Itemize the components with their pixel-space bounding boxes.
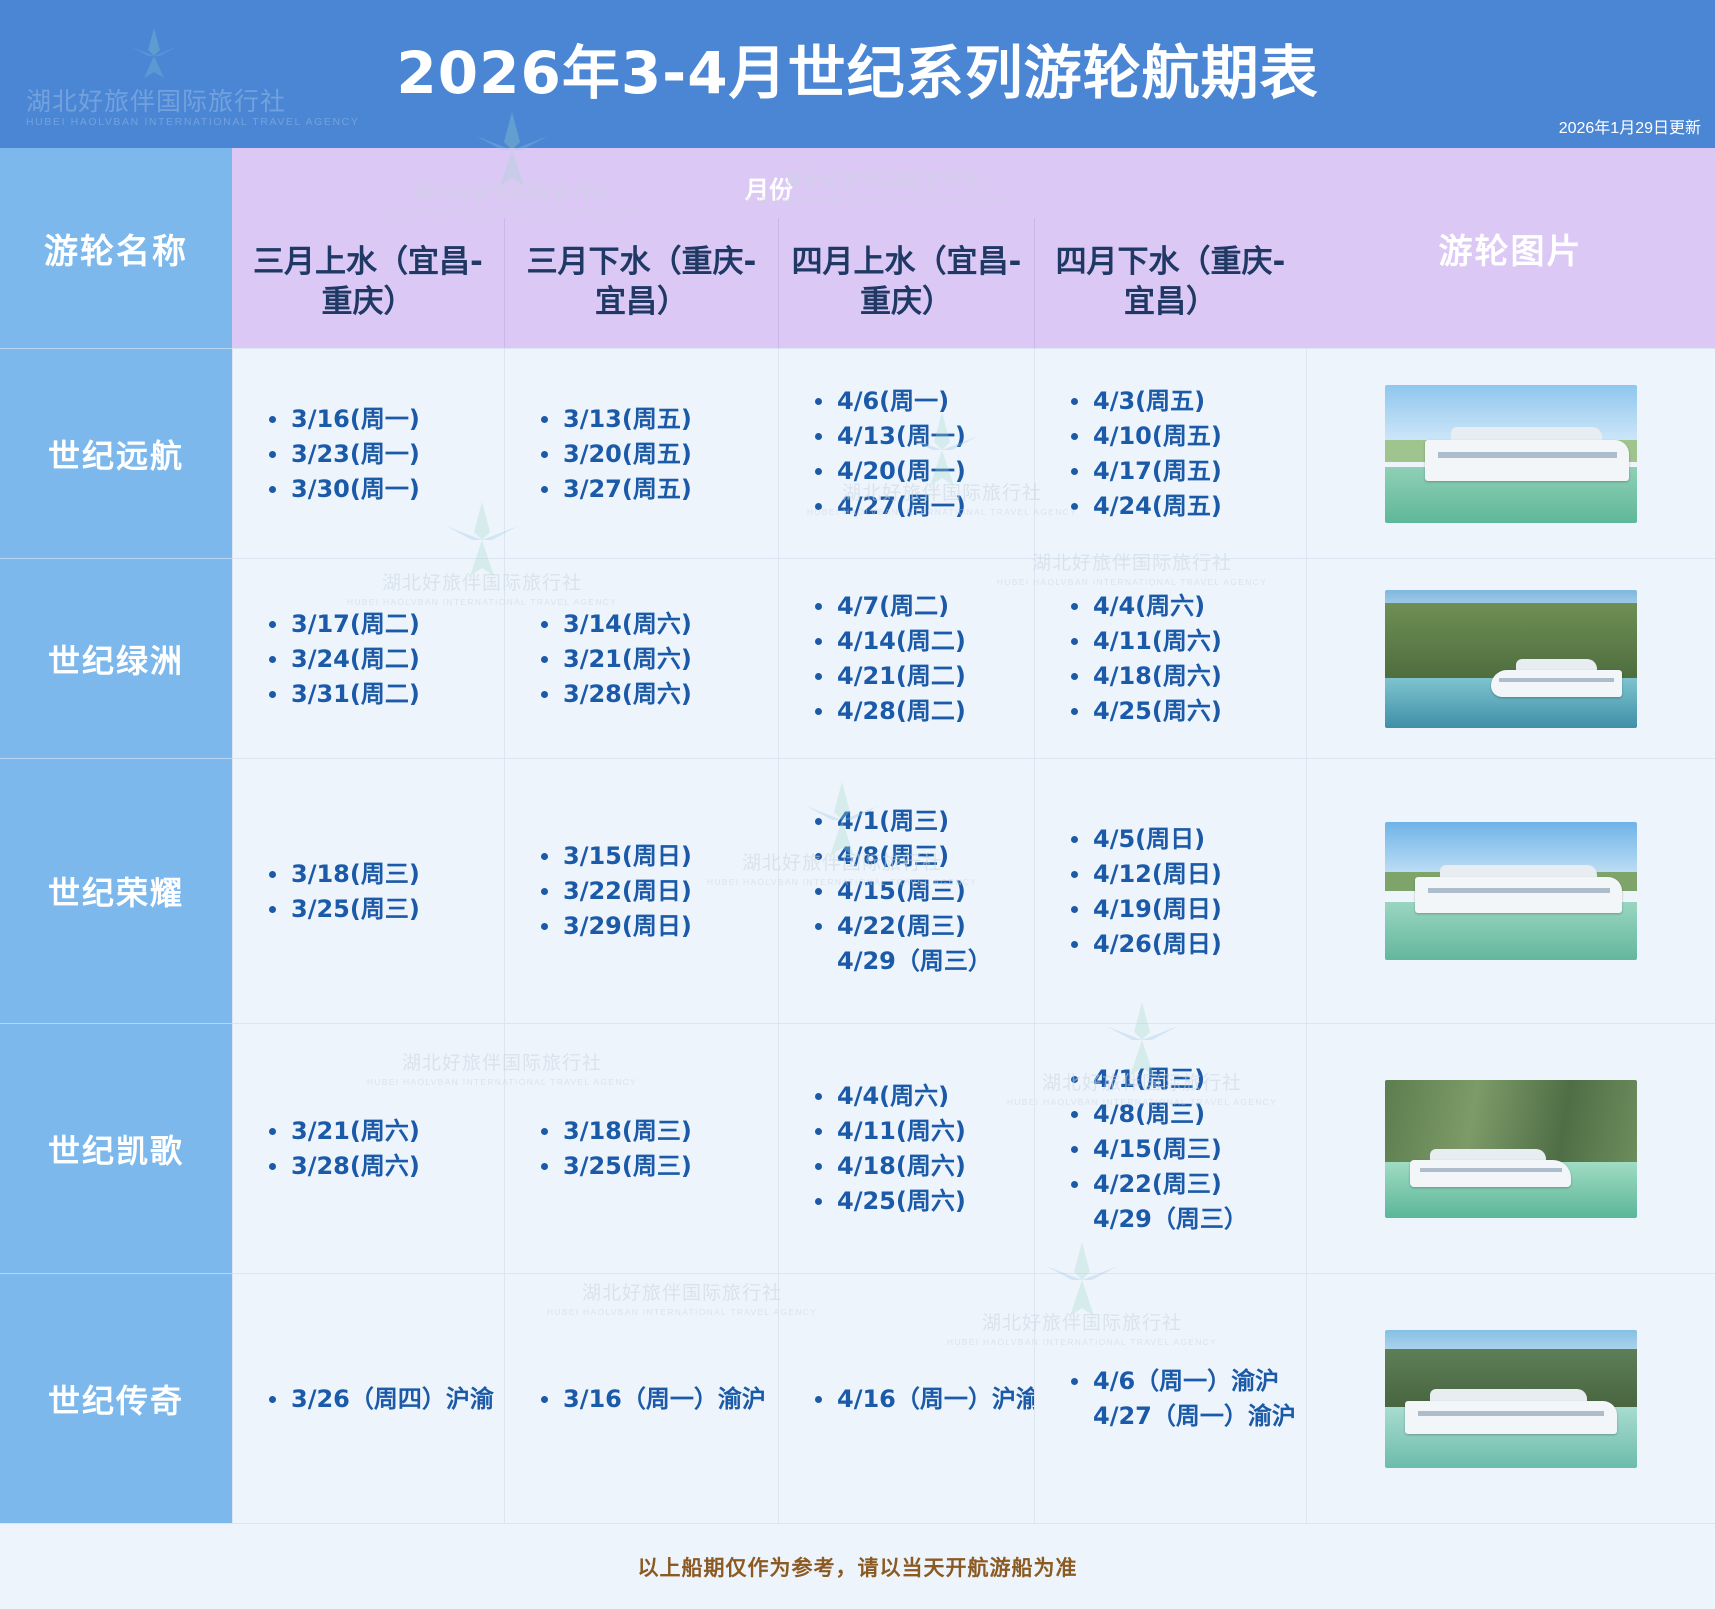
departure-date: 3/24(周二) bbox=[267, 647, 504, 671]
cell-mar-up: 3/26（周四）沪渝 bbox=[232, 1273, 504, 1523]
departure-date: 4/27(周一) bbox=[813, 494, 1034, 518]
departure-date: 4/4(周六) bbox=[813, 1084, 1034, 1108]
poster-header: 湖北好旅伴国际旅行社 HUBEI HAOLVBAN INTERNATIONAL … bbox=[0, 0, 1715, 148]
departure-date: 4/24(周五) bbox=[1069, 494, 1306, 518]
ship-photo-shijiyuanhang bbox=[1385, 385, 1637, 523]
departure-date: 3/16(周一) bbox=[267, 407, 504, 431]
cell-mar-down: 3/13(周五)3/20(周五)3/27(周五) bbox=[504, 348, 778, 558]
departure-date: 3/27(周五) bbox=[539, 477, 778, 501]
departure-date: 4/27（周一）渝沪 bbox=[1069, 1404, 1306, 1428]
table-row-ship-name: 世纪远航 bbox=[0, 348, 232, 558]
cell-apr-down: 4/3(周五)4/10(周五)4/17(周五)4/24(周五) bbox=[1034, 348, 1306, 558]
departure-date: 3/16（周一）渝沪 bbox=[539, 1387, 778, 1411]
table-row-ship-name: 世纪凯歌 bbox=[0, 1023, 232, 1273]
departure-date: 4/3(周五) bbox=[1069, 389, 1306, 413]
table-row-ship-name: 世纪传奇 bbox=[0, 1273, 232, 1523]
departure-date: 3/28(周六) bbox=[539, 682, 778, 706]
departure-date: 3/13(周五) bbox=[539, 407, 778, 431]
departure-date: 3/15(周日) bbox=[539, 844, 778, 868]
cell-mar-down: 3/15(周日)3/22(周日)3/29(周日) bbox=[504, 758, 778, 1023]
departure-date: 3/23(周一) bbox=[267, 442, 504, 466]
page-title: 2026年3-4月世纪系列游轮航期表 bbox=[0, 26, 1715, 110]
cell-apr-up: 4/4(周六)4/11(周六)4/18(周六)4/25(周六) bbox=[778, 1023, 1034, 1273]
col-header-month-group: 月份 三月上水（宜昌-重庆） 三月下水（重庆-宜昌） 四月上水（宜昌-重庆） 四… bbox=[232, 148, 1306, 348]
departure-date: 3/26（周四）沪渝 bbox=[267, 1387, 504, 1411]
departure-date: 4/1(周三) bbox=[1069, 1067, 1306, 1091]
cell-mar-down: 3/18(周三)3/25(周三) bbox=[504, 1023, 778, 1273]
departure-date: 4/25(周六) bbox=[813, 1189, 1034, 1213]
cell-ship-photo bbox=[1306, 758, 1715, 1023]
update-timestamp: 2026年1月29日更新 bbox=[1559, 114, 1701, 138]
departure-date: 4/8(周三) bbox=[1069, 1102, 1306, 1126]
cell-apr-down: 4/5(周日)4/12(周日)4/19(周日)4/26(周日) bbox=[1034, 758, 1306, 1023]
table-row-ship-name: 世纪荣耀 bbox=[0, 758, 232, 1023]
departure-date: 4/25(周六) bbox=[1069, 699, 1306, 723]
departure-date: 4/22(周三) bbox=[813, 914, 1034, 938]
col-header-ship-name: 游轮名称 bbox=[0, 148, 232, 348]
month-subheaders: 三月上水（宜昌-重庆） 三月下水（重庆-宜昌） 四月上水（宜昌-重庆） 四月下水… bbox=[232, 218, 1306, 348]
ship-photo-shijirongyao bbox=[1385, 822, 1637, 960]
footer-note-text: 以上船期仅作为参考，请以当天开航游船为准 bbox=[638, 1552, 1078, 1582]
departure-date: 4/19(周日) bbox=[1069, 897, 1306, 921]
departure-date: 4/18(周六) bbox=[813, 1154, 1034, 1178]
ship-photo-shijichuanqi bbox=[1385, 1330, 1637, 1468]
departure-date: 4/14(周二) bbox=[813, 629, 1034, 653]
departure-date: 4/18(周六) bbox=[1069, 664, 1306, 688]
cell-mar-up: 3/21(周六)3/28(周六) bbox=[232, 1023, 504, 1273]
departure-date: 4/1(周三) bbox=[813, 809, 1034, 833]
departure-date: 3/20(周五) bbox=[539, 442, 778, 466]
brand-name-en: HUBEI HAOLVBAN INTERNATIONAL TRAVEL AGEN… bbox=[26, 116, 286, 128]
ship-photo-shijilvzhou bbox=[1385, 590, 1637, 728]
departure-date: 3/28(周六) bbox=[267, 1154, 504, 1178]
departure-date: 4/22(周三) bbox=[1069, 1172, 1306, 1196]
departure-date: 4/29（周三） bbox=[813, 949, 1034, 973]
cell-apr-down: 4/6（周一）渝沪4/27（周一）渝沪 bbox=[1034, 1273, 1306, 1523]
departure-date: 4/21(周二) bbox=[813, 664, 1034, 688]
departure-date: 4/16（周一）沪渝 bbox=[813, 1387, 1034, 1411]
cell-apr-up: 4/7(周二)4/14(周二)4/21(周二)4/28(周二) bbox=[778, 558, 1034, 758]
departure-date: 3/17(周二) bbox=[267, 612, 504, 636]
departure-date: 3/18(周三) bbox=[267, 862, 504, 886]
cell-mar-up: 3/18(周三)3/25(周三) bbox=[232, 758, 504, 1023]
departure-date: 4/13(周一) bbox=[813, 424, 1034, 448]
departure-date: 3/14(周六) bbox=[539, 612, 778, 636]
cell-mar-down: 3/16（周一）渝沪 bbox=[504, 1273, 778, 1523]
departure-date: 4/4(周六) bbox=[1069, 594, 1306, 618]
departure-date: 4/17(周五) bbox=[1069, 459, 1306, 483]
table-row-ship-name: 世纪绿洲 bbox=[0, 558, 232, 758]
cell-ship-photo bbox=[1306, 348, 1715, 558]
cell-ship-photo bbox=[1306, 1273, 1715, 1523]
cell-apr-up: 4/6(周一)4/13(周一)4/20(周一)4/27(周一) bbox=[778, 348, 1034, 558]
departure-date: 4/6（周一）渝沪 bbox=[1069, 1369, 1306, 1393]
departure-date: 3/21(周六) bbox=[539, 647, 778, 671]
col-header-mar-up: 三月上水（宜昌-重庆） bbox=[232, 218, 504, 348]
departure-date: 4/15(周三) bbox=[1069, 1137, 1306, 1161]
col-header-apr-up: 四月上水（宜昌-重庆） bbox=[778, 218, 1034, 348]
departure-date: 3/25(周三) bbox=[539, 1154, 778, 1178]
departure-date: 3/22(周日) bbox=[539, 879, 778, 903]
departure-date: 4/8(周三) bbox=[813, 844, 1034, 868]
cell-apr-down: 4/1(周三)4/8(周三)4/15(周三)4/22(周三)4/29（周三） bbox=[1034, 1023, 1306, 1273]
departure-date: 3/18(周三) bbox=[539, 1119, 778, 1143]
departure-date: 3/21(周六) bbox=[267, 1119, 504, 1143]
cell-apr-up: 4/1(周三)4/8(周三)4/15(周三)4/22(周三)4/29（周三） bbox=[778, 758, 1034, 1023]
cell-mar-down: 3/14(周六)3/21(周六)3/28(周六) bbox=[504, 558, 778, 758]
cell-mar-up: 3/16(周一)3/23(周一)3/30(周一) bbox=[232, 348, 504, 558]
ship-photo-shijikaige bbox=[1385, 1080, 1637, 1218]
departure-date: 4/12(周日) bbox=[1069, 862, 1306, 886]
col-header-apr-down: 四月下水（重庆-宜昌） bbox=[1034, 218, 1306, 348]
cruise-schedule-table: 游轮名称 月份 三月上水（宜昌-重庆） 三月下水（重庆-宜昌） 四月上水（宜昌-… bbox=[0, 148, 1715, 1609]
schedule-poster: 湖北好旅伴国际旅行社 HUBEI HAOLVBAN INTERNATIONAL … bbox=[0, 0, 1715, 1609]
departure-date: 3/30(周一) bbox=[267, 477, 504, 501]
departure-date: 4/29（周三） bbox=[1069, 1207, 1306, 1231]
month-group-label: 月份 bbox=[232, 170, 1306, 205]
departure-date: 4/10(周五) bbox=[1069, 424, 1306, 448]
departure-date: 3/25(周三) bbox=[267, 897, 504, 921]
col-header-photo: 游轮图片 bbox=[1306, 148, 1715, 348]
departure-date: 4/11(周六) bbox=[813, 1119, 1034, 1143]
departure-date: 3/29(周日) bbox=[539, 914, 778, 938]
cell-apr-down: 4/4(周六)4/11(周六)4/18(周六)4/25(周六) bbox=[1034, 558, 1306, 758]
cell-ship-photo bbox=[1306, 558, 1715, 758]
departure-date: 4/20(周一) bbox=[813, 459, 1034, 483]
cell-ship-photo bbox=[1306, 1023, 1715, 1273]
cell-apr-up: 4/16（周一）沪渝 bbox=[778, 1273, 1034, 1523]
footer-disclaimer: 以上船期仅作为参考，请以当天开航游船为准 bbox=[0, 1523, 1715, 1609]
cell-mar-up: 3/17(周二)3/24(周二)3/31(周二) bbox=[232, 558, 504, 758]
departure-date: 4/6(周一) bbox=[813, 389, 1034, 413]
departure-date: 4/7(周二) bbox=[813, 594, 1034, 618]
departure-date: 4/15(周三) bbox=[813, 879, 1034, 903]
departure-date: 4/11(周六) bbox=[1069, 629, 1306, 653]
departure-date: 4/26(周日) bbox=[1069, 932, 1306, 956]
col-header-mar-down: 三月下水（重庆-宜昌） bbox=[504, 218, 778, 348]
departure-date: 4/5(周日) bbox=[1069, 827, 1306, 851]
departure-date: 4/28(周二) bbox=[813, 699, 1034, 723]
departure-date: 3/31(周二) bbox=[267, 682, 504, 706]
